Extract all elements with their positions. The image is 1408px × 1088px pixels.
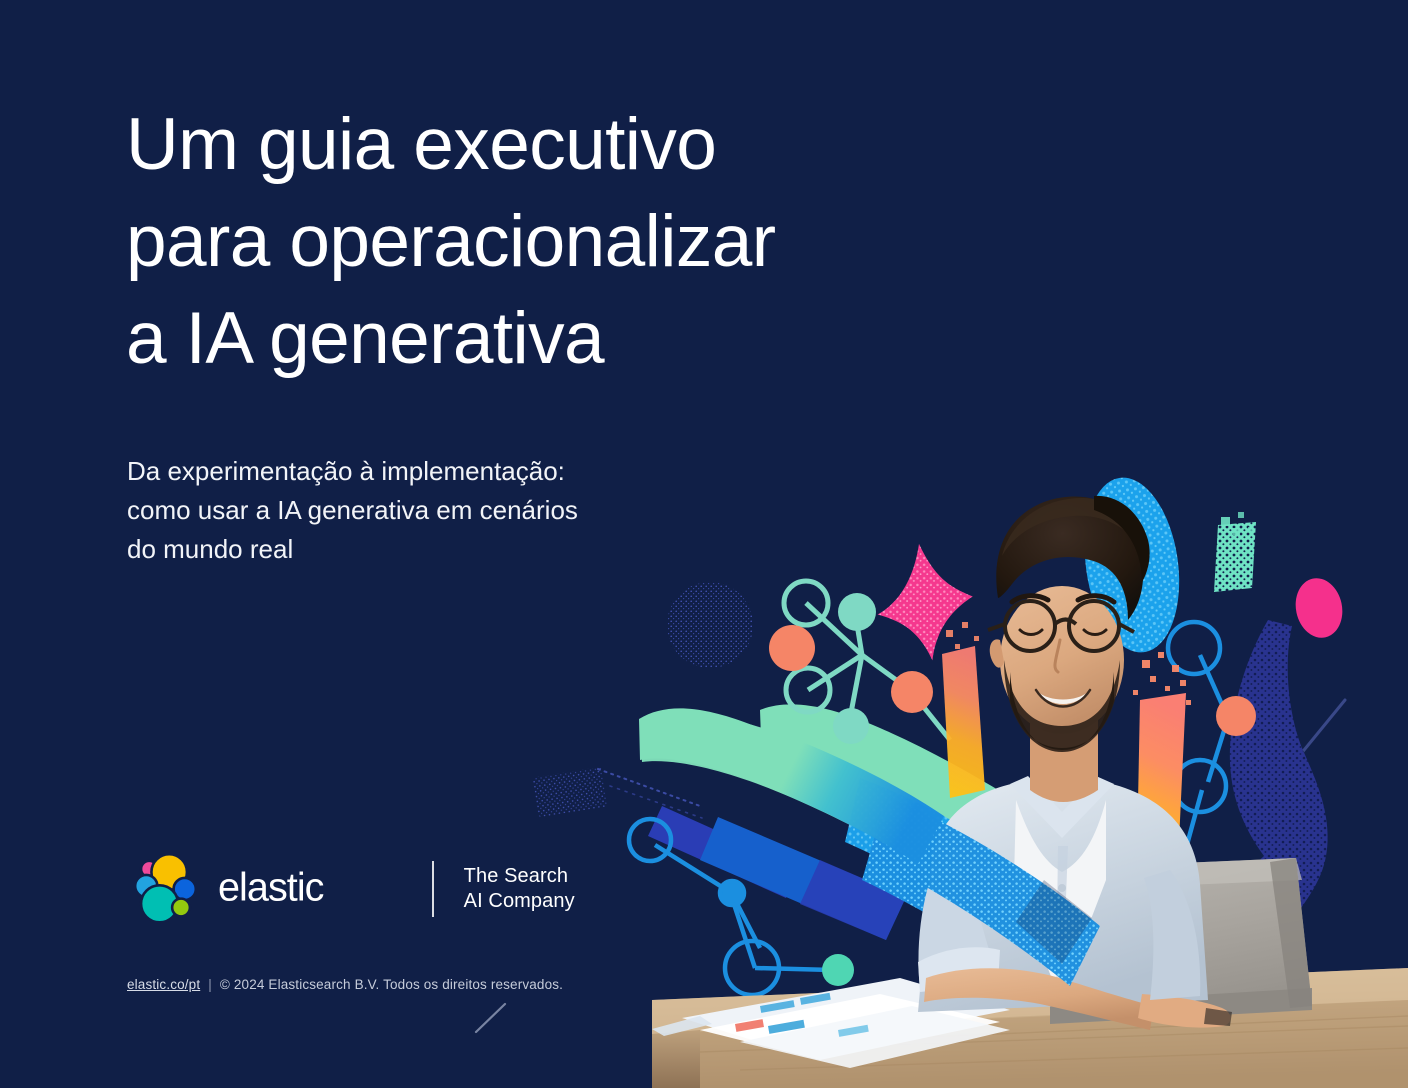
page-subtitle: Da experimentação à implementação: como … bbox=[127, 452, 747, 569]
elastic-wordmark: elastic bbox=[218, 866, 410, 912]
ebook-cover-page: Um guia executivo para operacionalizar a… bbox=[0, 0, 1408, 1088]
page-title: Um guia executivo para operacionalizar a… bbox=[126, 96, 946, 387]
footer-site-link[interactable]: elastic.co/pt bbox=[127, 977, 200, 992]
footer-separator: | bbox=[208, 977, 212, 992]
logo-tagline: The Search AI Company bbox=[464, 864, 575, 914]
orange-node-dot-right-icon bbox=[1216, 696, 1256, 736]
elastic-logo-lockup[interactable]: elastic The Search AI Company bbox=[127, 852, 575, 926]
teal-node-dot-icon bbox=[822, 954, 854, 986]
logo-divider bbox=[432, 861, 434, 917]
footer-copyright: © 2024 Elasticsearch B.V. Todos os direi… bbox=[220, 977, 563, 992]
elastic-cluster-mark-icon bbox=[127, 852, 201, 926]
footer: elastic.co/pt | © 2024 Elasticsearch B.V… bbox=[127, 977, 563, 992]
svg-text:elastic: elastic bbox=[218, 866, 324, 909]
dotted-circle-icon bbox=[667, 582, 753, 668]
